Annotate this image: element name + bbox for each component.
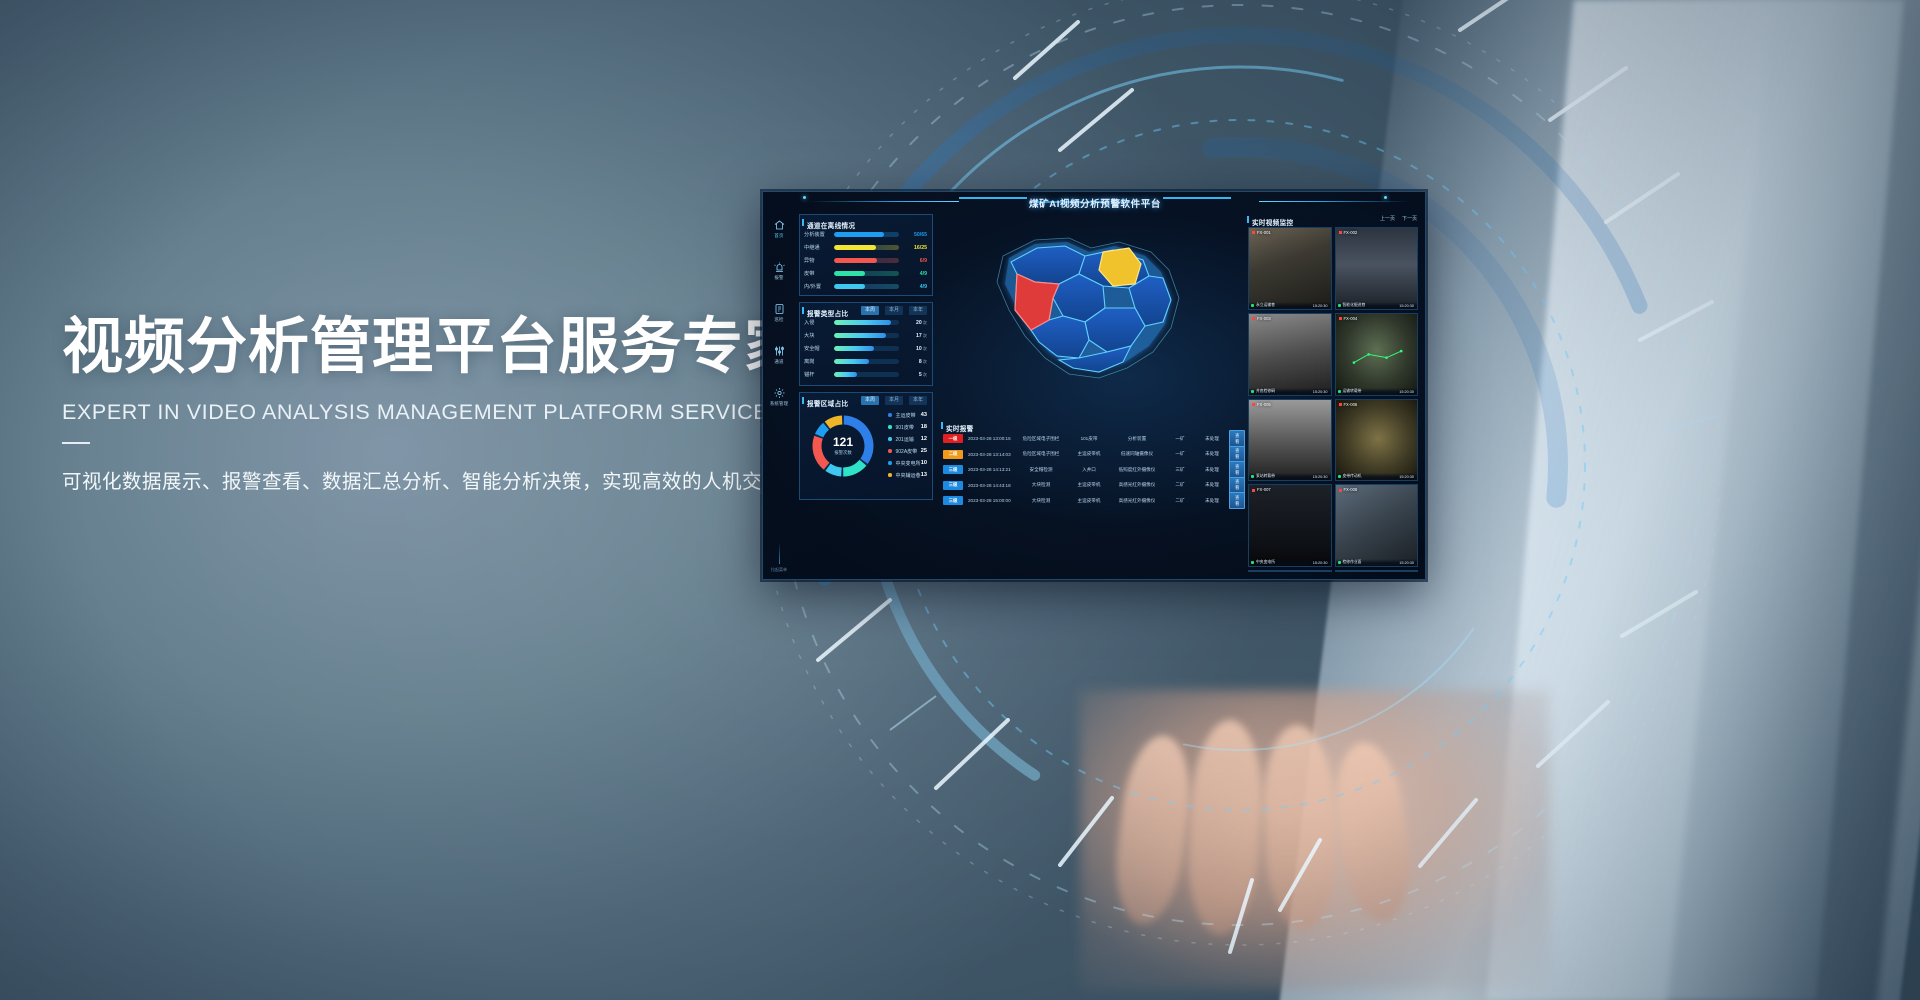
video-feed-FX-003 xyxy=(1249,314,1331,395)
alarm-type-tab-本周[interactable]: 本周 xyxy=(861,306,879,315)
video-camera-id: FX-004 xyxy=(1339,316,1358,321)
channel-bar-list: 分析装置50/65中继通16/25异物6/9皮带4/9内/外置4/9 xyxy=(800,228,932,293)
channel-bar-value: 16/25 xyxy=(903,245,927,251)
prev-page-button[interactable]: 上一页 xyxy=(1380,215,1395,222)
view-button[interactable]: 查看 xyxy=(1229,430,1245,447)
cell-time: 2023-03-28 15:00:00 xyxy=(963,498,1013,503)
channel-bar-row: 异物6/9 xyxy=(800,254,932,267)
channel-bar-track xyxy=(834,271,899,275)
alarm-area-panel-head: 报警区域占比 本周本月本年 xyxy=(800,393,932,406)
video-feed-FX-006 xyxy=(1336,400,1418,481)
legend-label: 中央辅运巷 xyxy=(896,472,921,479)
alarm-type-track xyxy=(834,372,899,376)
alarm-type-row: 大块17次 xyxy=(800,329,932,342)
cell-status: 未处理 xyxy=(1195,467,1229,473)
video-feed-FX-008 xyxy=(1336,485,1418,566)
cell-time: 2023-03-28 13:00:16 xyxy=(963,436,1013,441)
legend-item: 201运输12 xyxy=(888,433,927,445)
sidebar-item-home[interactable]: 首页 xyxy=(763,208,795,250)
sidebar-label-channel: 通道 xyxy=(774,359,783,365)
video-cell[interactable]: FX-007中央变电所15:20:30 xyxy=(1248,484,1332,567)
alarm-type-value: 5次 xyxy=(903,372,927,378)
legend-item: 902A皮带25 xyxy=(888,445,927,457)
alarm-type-fill xyxy=(834,333,886,337)
video-pager: 上一页 下一页 xyxy=(1380,215,1417,222)
legend-value: 13 xyxy=(921,472,927,478)
alarm-area-panel-title: 报警区域占比 xyxy=(807,401,848,408)
status-badge: 一级 xyxy=(943,434,963,443)
cell-status: 未处理 xyxy=(1195,482,1229,488)
rec-icon xyxy=(1339,231,1342,234)
live-indicator-icon xyxy=(1251,304,1254,307)
status-badge: 三级 xyxy=(943,465,963,474)
panel-accent xyxy=(802,307,804,314)
cell-area: 入井口 xyxy=(1069,467,1109,473)
video-camera-id: FX-008 xyxy=(1339,487,1358,492)
legend-color-dot xyxy=(888,461,892,465)
channel-bar-value: 4/9 xyxy=(903,284,927,290)
video-cell[interactable]: FX-005泵站转载带15:20:30 xyxy=(1248,399,1332,482)
live-indicator-icon xyxy=(1338,561,1341,564)
video-location-label: 检修作业面 xyxy=(1343,560,1362,565)
video-feed-FX-007 xyxy=(1249,485,1331,566)
legend-value: 43 xyxy=(921,412,927,418)
video-location-label: 智能化掘进巷 xyxy=(1343,303,1366,308)
cell-device: 分析装置 xyxy=(1109,436,1165,442)
donut-total-label: 报警次数 xyxy=(834,450,852,456)
cell-device: 高感光红外摄像仪 xyxy=(1109,482,1165,488)
alarm-type-tab-本月[interactable]: 本月 xyxy=(885,306,903,315)
legend-color-dot xyxy=(888,473,892,477)
channel-bar-label: 异物 xyxy=(804,257,834,264)
legend-label: 201运输 xyxy=(896,436,921,443)
video-feed-FX-001 xyxy=(1249,228,1331,309)
alarm-type-value: 17次 xyxy=(903,333,927,339)
channel-bar-label: 分析装置 xyxy=(804,231,834,238)
detection-overlay xyxy=(1336,314,1418,395)
rec-icon xyxy=(1252,403,1255,406)
cell-channel: 一矿 xyxy=(1165,451,1195,457)
sidebar-label-alarm: 报警 xyxy=(774,275,783,281)
alarm-area-legend: 主运皮带43901皮带18201运输12902A皮带25中央变电所10中央辅运巷… xyxy=(888,409,927,481)
cell-action: 查看 xyxy=(1229,492,1245,509)
region-map[interactable] xyxy=(939,212,1239,412)
alarm-area-donut-chart: 121 报警次数 xyxy=(808,411,878,481)
video-timestamp: 15:20:30 xyxy=(1399,304,1414,308)
video-location-label: 泵站转载带 xyxy=(1256,474,1275,479)
sidebar-label-system: 系统管理 xyxy=(770,401,788,407)
channel-bar-value: 6/9 xyxy=(903,258,927,264)
cell-time: 2023-03-28 14:43:18 xyxy=(963,483,1013,488)
alarm-type-label: 离岗 xyxy=(804,358,834,365)
legend-item: 主运皮带43 xyxy=(888,409,927,421)
channel-panel-title: 通道在离线情况 xyxy=(807,223,855,230)
channel-bar-track xyxy=(834,258,899,262)
video-location-label: 运输转载带 xyxy=(1343,389,1362,394)
video-feed-FX-005 xyxy=(1249,400,1331,481)
video-cell[interactable]: FX-006皮带传动机15:20:30 xyxy=(1335,399,1419,482)
video-timestamp: 15:20:30 xyxy=(1399,475,1414,479)
sidebar-item-inspection[interactable]: 巡检 xyxy=(763,292,795,334)
channel-bar-row: 皮带4/9 xyxy=(800,267,932,280)
channel-bar-value: 50/65 xyxy=(903,232,927,238)
alarm-type-label: 安全帽 xyxy=(804,345,834,352)
cell-action: 查看 xyxy=(1229,461,1245,478)
donut-center-label: 121 报警次数 xyxy=(808,411,878,481)
alarm-type-value: 8次 xyxy=(903,359,927,365)
table-row: 三级2023-03-28 14:13:21安全帽检测入井口低照度红外摄像仪三矿未… xyxy=(939,462,1239,478)
channel-bar-label: 皮带 xyxy=(804,270,834,277)
rec-icon xyxy=(1339,489,1342,492)
alarm-type-row: 离岗8次 xyxy=(800,355,932,368)
alarm-type-tabs: 本周本月本年 xyxy=(861,306,927,315)
live-indicator-icon xyxy=(1338,390,1341,393)
sidebar-item-channel[interactable]: 通道 xyxy=(763,334,795,376)
video-location-label: 皮带传动机 xyxy=(1343,474,1362,479)
inspection-icon xyxy=(773,303,786,315)
rec-icon xyxy=(1252,231,1255,234)
legend-label: 901皮带 xyxy=(896,424,921,431)
channel-bar-fill xyxy=(834,271,865,275)
header-dot-right xyxy=(1384,196,1387,199)
cell-action: 查看 xyxy=(1229,446,1245,463)
video-camera-id: FX-002 xyxy=(1339,230,1358,235)
video-panel-head: 实时视频监控 上一页 下一页 xyxy=(1245,212,1421,225)
legend-color-dot xyxy=(888,413,892,417)
channel-bar-label: 内/外置 xyxy=(804,283,834,290)
channel-bar-fill xyxy=(834,284,865,288)
video-location-label: 中央变电所 xyxy=(1256,560,1275,565)
video-camera-id: FX-007 xyxy=(1252,487,1271,492)
alarm-type-fill xyxy=(834,359,869,363)
home-icon xyxy=(773,219,786,231)
panel-accent xyxy=(1247,216,1249,223)
live-indicator-icon xyxy=(1251,561,1254,564)
dashboard-content: 煤矿AI视频分析预警软件平台 首页 报警 xyxy=(763,192,1425,579)
cell-status: 未处理 xyxy=(1195,436,1229,442)
cell-action: 查看 xyxy=(1229,430,1245,447)
legend-item: 901皮带18 xyxy=(888,421,927,433)
sidebar-label-home: 首页 xyxy=(774,233,783,239)
video-grid: FX-001永立运输巷15:20:30FX-002智能化掘进巷15:20:30F… xyxy=(1248,227,1418,572)
legend-label: 主运皮带 xyxy=(896,412,921,419)
channel-bar-row: 中继通16/25 xyxy=(800,241,932,254)
panel-accent xyxy=(802,219,804,226)
legend-value: 12 xyxy=(921,436,927,442)
cell-channel: 二矿 xyxy=(1165,482,1195,488)
view-button[interactable]: 查看 xyxy=(1229,492,1245,509)
sidebar-footer[interactable]: 拉起菜单 xyxy=(763,542,795,573)
channel-bar-label: 中继通 xyxy=(804,244,834,251)
legend-item: 中央辅运巷13 xyxy=(888,469,927,481)
alarm-type-row: 安全帽10次 xyxy=(800,342,932,355)
sidebar-footer-label: 拉起菜单 xyxy=(771,567,787,572)
alarm-type-label: 锚杆 xyxy=(804,371,834,378)
video-camera-id: FX-001 xyxy=(1252,230,1271,235)
next-page-button[interactable]: 下一页 xyxy=(1402,215,1417,222)
video-location-label: 永立运输巷 xyxy=(1256,303,1275,308)
table-row: 一级2023-03-28 13:00:16危险区域电子围栏101皮带分析装置一矿… xyxy=(939,431,1239,447)
legend-color-dot xyxy=(888,449,892,453)
cell-type: 危险区域电子围栏 xyxy=(1013,451,1069,457)
header-line-right xyxy=(1259,201,1409,202)
alarm-type-track xyxy=(834,333,899,337)
dashboard-sidebar: 首页 报警 巡检 通道 xyxy=(763,208,795,579)
cell-device: 高感光红外摄像仪 xyxy=(1109,498,1165,504)
donut-total: 121 xyxy=(833,436,853,448)
status-badge: 三级 xyxy=(943,481,963,490)
cell-status: 未处理 xyxy=(1195,451,1229,457)
hero-divider xyxy=(62,442,90,444)
view-button[interactable]: 查看 xyxy=(1229,461,1245,478)
realtime-alarm-panel: 实时报警 一级2023-03-28 13:00:16危险区域电子围栏101皮带分… xyxy=(939,418,1239,500)
sidebar-label-inspection: 巡检 xyxy=(774,317,783,323)
dashboard-screen: 煤矿AI视频分析预警软件平台 首页 报警 xyxy=(762,191,1426,580)
video-camera-id: FX-003 xyxy=(1252,316,1271,321)
cell-area: 101皮带 xyxy=(1069,436,1109,442)
dashboard-title: 煤矿AI视频分析预警软件平台 xyxy=(763,196,1426,210)
cell-time: 2023-03-28 14:13:21 xyxy=(963,467,1013,472)
channel-bar-fill xyxy=(834,245,876,249)
cell-channel: 三矿 xyxy=(1165,467,1195,473)
sidebar-item-alarm[interactable]: 报警 xyxy=(763,250,795,292)
cell-device: 低速同轴摄像仪 xyxy=(1109,451,1165,457)
video-timestamp: 15:20:30 xyxy=(1313,390,1328,394)
cell-type: 危险区域电子围栏 xyxy=(1013,436,1069,442)
alarm-type-panel-head: 报警类型占比 本周本月本年 xyxy=(800,303,932,316)
video-timestamp: 15:20:30 xyxy=(1399,390,1414,394)
alarm-type-track xyxy=(834,346,899,350)
video-timestamp: 15:20:30 xyxy=(1313,475,1328,479)
legend-label: 中央变电所 xyxy=(896,460,921,467)
legend-value: 10 xyxy=(921,460,927,466)
video-camera-id: FX-005 xyxy=(1252,402,1271,407)
video-panel-title: 实时视频监控 xyxy=(1252,220,1293,227)
cell-device: 低照度红外摄像仪 xyxy=(1109,467,1165,473)
alarm-area-tabs: 本周本月本年 xyxy=(861,396,927,405)
alarm-type-label: 大块 xyxy=(804,332,834,339)
cell-area: 主运皮带机 xyxy=(1069,482,1109,488)
video-cell[interactable]: FX-002智能化掘进巷15:20:30 xyxy=(1335,227,1419,310)
video-camera-id: FX-006 xyxy=(1339,402,1358,407)
alarm-area-tab-本周[interactable]: 本周 xyxy=(861,396,879,405)
alarm-type-fill xyxy=(834,320,891,324)
alarm-type-row: 锚杆5次 xyxy=(800,368,932,381)
alarm-type-panel-title: 报警类型占比 xyxy=(807,311,848,318)
alarm-type-fill xyxy=(834,372,857,376)
alarm-table-head: 实时报警 xyxy=(939,418,1239,431)
video-location-label: 井底检修硐 xyxy=(1256,389,1275,394)
alarm-area-tab-本年[interactable]: 本年 xyxy=(909,396,927,405)
channel-bar-fill xyxy=(834,258,877,262)
video-cell[interactable]: FX-008检修作业面15:20:30 xyxy=(1335,484,1419,567)
rec-icon xyxy=(1252,489,1255,492)
cell-status: 未处理 xyxy=(1195,498,1229,504)
panel-accent xyxy=(802,397,804,404)
video-feed-FX-002 xyxy=(1336,228,1418,309)
channel-bar-track xyxy=(834,284,899,288)
cell-type: 大块检测 xyxy=(1013,482,1069,488)
table-row: 三级2023-03-28 15:00:00大块检测主运皮带机高感光红外摄像仪二矿… xyxy=(939,493,1239,509)
cell-type: 大块检测 xyxy=(1013,498,1069,504)
view-button[interactable]: 查看 xyxy=(1229,477,1245,494)
video-timestamp: 15:20:30 xyxy=(1313,304,1328,308)
status-badge: 三级 xyxy=(943,496,963,505)
legend-value: 25 xyxy=(921,448,927,454)
channel-bar-track xyxy=(834,245,899,249)
alarm-table-body: 一级2023-03-28 13:00:16危险区域电子围栏101皮带分析装置一矿… xyxy=(939,431,1239,509)
channel-bar-value: 4/9 xyxy=(903,271,927,277)
channel-icon xyxy=(773,345,786,357)
video-monitor-panel: 实时视频监控 上一页 下一页 FX-001永立运输巷15:20:30FX-002… xyxy=(1245,212,1421,575)
video-cell[interactable]: FX-009入井检身15:20:30 xyxy=(1248,570,1332,572)
video-footer xyxy=(1336,570,1418,571)
legend-color-dot xyxy=(888,437,892,441)
gear-icon xyxy=(773,387,786,399)
status-badge: 二级 xyxy=(943,450,963,459)
alarm-icon xyxy=(773,261,786,273)
legend-value: 18 xyxy=(921,424,927,430)
channel-panel-head: 通道在离线情况 xyxy=(800,215,932,228)
channel-bar-fill xyxy=(834,232,884,236)
alarm-type-value: 10次 xyxy=(903,346,927,352)
cell-action: 查看 xyxy=(1229,477,1245,494)
rec-icon xyxy=(1339,403,1342,406)
alarm-type-track xyxy=(834,320,899,324)
alarm-type-panel: 报警类型占比 本周本月本年 入侵20次大块17次安全帽10次离岗8次锚杆5次 xyxy=(799,302,933,386)
video-cell[interactable]: FX-010巷道检测15:20:30 xyxy=(1335,570,1419,572)
legend-item: 中央变电所10 xyxy=(888,457,927,469)
live-indicator-icon xyxy=(1251,390,1254,393)
alarm-type-value: 20次 xyxy=(903,320,927,326)
video-timestamp: 15:20:30 xyxy=(1313,561,1328,565)
sidebar-item-system[interactable]: 系统管理 xyxy=(763,376,795,418)
header-dash-5 xyxy=(1163,197,1231,199)
alarm-area-panel: 报警区域占比 本周本月本年 121 报警次数 主运皮带43901皮带18201运… xyxy=(799,392,933,500)
video-cell[interactable]: FX-004运输转载带15:20:30 xyxy=(1335,313,1419,396)
cell-area: 主运皮带机 xyxy=(1069,451,1109,457)
alarm-type-label: 入侵 xyxy=(804,319,834,326)
channel-status-panel: 通道在离线情况 分析装置50/65中继通16/25异物6/9皮带4/9内/外置4… xyxy=(799,214,933,296)
map-svg xyxy=(939,212,1239,412)
panel-accent xyxy=(941,422,943,429)
cell-area: 主运皮带机 xyxy=(1069,498,1109,504)
legend-color-dot xyxy=(888,425,892,429)
alarm-type-fill xyxy=(834,346,874,350)
cell-channel: 一矿 xyxy=(1165,436,1195,442)
rec-icon xyxy=(1339,317,1342,320)
video-timestamp: 15:20:30 xyxy=(1399,561,1414,565)
channel-bar-track xyxy=(834,232,899,236)
video-cell[interactable]: FX-001永立运输巷15:20:30 xyxy=(1248,227,1332,310)
sidebar-footer-bar xyxy=(779,542,780,564)
table-row: 二级2023-03-28 13:14:03危险区域电子围栏主运皮带机低速同轴摄像… xyxy=(939,447,1239,463)
table-row: 三级2023-03-28 14:43:18大块检测主运皮带机高感光红外摄像仪二矿… xyxy=(939,478,1239,494)
alarm-area-tab-本月[interactable]: 本月 xyxy=(885,396,903,405)
cell-time: 2023-03-28 13:14:03 xyxy=(963,452,1013,457)
view-button[interactable]: 查看 xyxy=(1229,446,1245,463)
alarm-type-track xyxy=(834,359,899,363)
cell-type: 安全帽检测 xyxy=(1013,467,1069,473)
channel-bar-row: 内/外置4/9 xyxy=(800,280,932,293)
video-cell[interactable]: FX-003井底检修硐15:20:30 xyxy=(1248,313,1332,396)
cell-channel: 二矿 xyxy=(1165,498,1195,504)
legend-label: 902A皮带 xyxy=(896,448,921,455)
alarm-table-title: 实时报警 xyxy=(946,426,974,433)
alarm-type-tab-本年[interactable]: 本年 xyxy=(909,306,927,315)
video-footer xyxy=(1249,570,1331,571)
live-indicator-icon xyxy=(1338,304,1341,307)
alarm-type-bar-list: 入侵20次大块17次安全帽10次离岗8次锚杆5次 xyxy=(800,316,932,381)
rec-icon xyxy=(1252,317,1255,320)
